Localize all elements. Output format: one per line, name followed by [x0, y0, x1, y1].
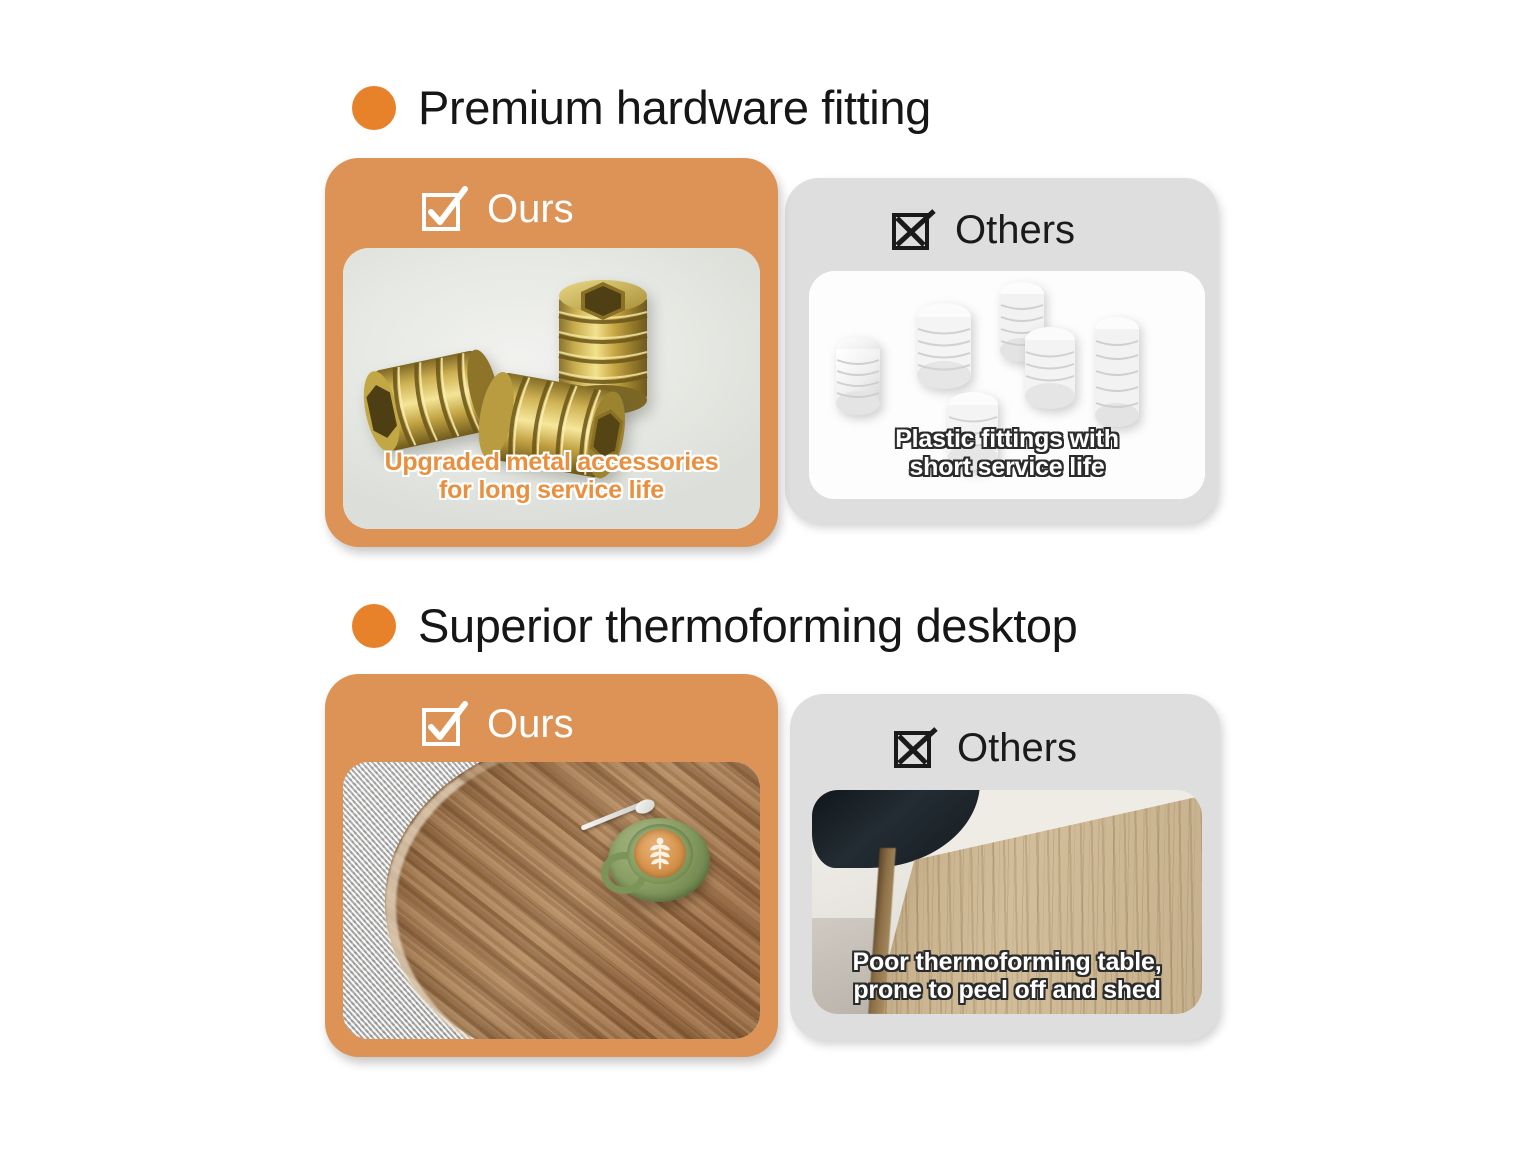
others-card-desktop: Others Poor thermoforming table, prone t…	[790, 694, 1220, 1040]
section-heading-label: Superior thermoforming desktop	[418, 601, 1077, 650]
others-card-hardware: Others	[785, 178, 1218, 523]
peeling-oak-table-scene	[812, 790, 1202, 1014]
plastic-insert-icon	[1086, 313, 1148, 433]
ours-card-hardware: Ours	[325, 158, 778, 547]
ours-card-label: Ours	[487, 189, 574, 229]
plastic-insert-icon	[906, 299, 982, 395]
ours-card-header: Ours	[418, 183, 574, 235]
infographic-canvas: Premium hardware fitting Others	[0, 0, 1533, 1149]
brass-insert-icon	[471, 364, 641, 492]
plastic-fittings-scene	[809, 271, 1205, 499]
latte-art-icon	[640, 834, 680, 874]
plastic-insert-icon	[1014, 323, 1086, 415]
ours-photo-metal-inserts: Upgraded metal accessories for long serv…	[343, 248, 760, 529]
orange-dot-icon	[352, 86, 396, 130]
checkbox-checked-icon	[418, 183, 470, 235]
tabletop-edge-highlight	[385, 762, 760, 1039]
checkbox-crossed-icon	[888, 205, 938, 255]
section-heading-thermoforming-desktop: Superior thermoforming desktop	[352, 601, 1077, 650]
others-card-label: Others	[955, 210, 1075, 250]
others-photo-peeling-table: Poor thermoforming table, prone to peel …	[812, 790, 1202, 1014]
ours-card-desktop: Ours	[325, 674, 778, 1057]
brass-inserts-scene	[343, 248, 760, 529]
others-card-header: Others	[890, 723, 1077, 773]
ours-card-label: Ours	[487, 704, 574, 744]
plastic-insert-icon	[827, 333, 889, 421]
checkbox-checked-icon	[418, 698, 470, 750]
others-card-header: Others	[888, 205, 1075, 255]
orange-dot-icon	[352, 604, 396, 648]
others-card-label: Others	[957, 728, 1077, 768]
ours-card-header: Ours	[418, 698, 574, 750]
section-heading-hardware-fitting: Premium hardware fitting	[352, 83, 931, 132]
others-photo-plastic-fittings: Plastic fittings with short service life	[809, 271, 1205, 499]
wooden-tabletop-scene	[343, 762, 760, 1039]
plastic-insert-icon	[937, 389, 1009, 475]
ours-photo-wood-desktop	[343, 762, 760, 1039]
checkbox-crossed-icon	[890, 723, 940, 773]
coffee-crema	[634, 829, 686, 878]
section-heading-label: Premium hardware fitting	[418, 83, 931, 132]
